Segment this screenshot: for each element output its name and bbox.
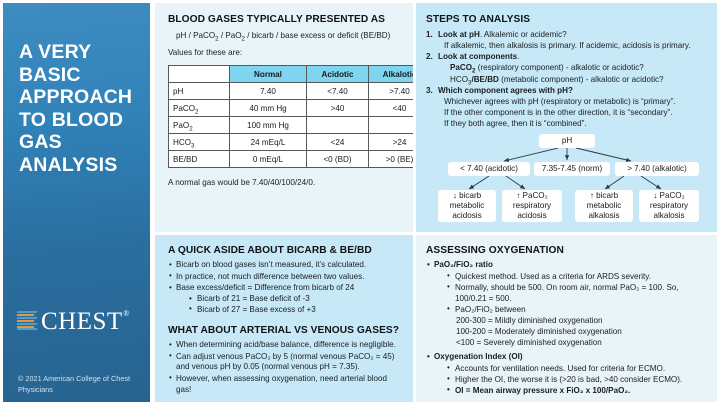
cell-normal: 40 mm Hg — [230, 100, 307, 117]
step-subline: If alkalemic, then alkalosis is primary.… — [438, 40, 708, 51]
cell-acidotic — [307, 117, 369, 134]
blood-gas-values-table: Normal Acidotic Alkalotic pH 7.40 <7.40 … — [168, 65, 413, 168]
table-header-row: Normal Acidotic Alkalotic — [169, 66, 414, 83]
flow-leaf-metabolic-alkalosis: ↑ bicarb metabolic alkalosis — [575, 190, 633, 222]
bicarb-aside-sub-bullets: Bicarb of 21 = Base deficit of -3 Bicarb… — [168, 294, 403, 316]
chest-logo-wordmark: CHEST® — [41, 309, 123, 334]
table-row: PaO2 100 mm Hg — [169, 117, 414, 134]
step-number: 2. — [426, 51, 433, 62]
list-item: In practice, not much difference between… — [168, 272, 403, 283]
normal-gas-note: A normal gas would be 7.40/40/100/24/0. — [168, 177, 413, 188]
row-label-text: HCO — [173, 138, 191, 147]
component-rest: (respiratory component) - alkalotic or a… — [476, 63, 644, 72]
subtitle-part-1: pH / PaCO — [176, 31, 215, 40]
oxygenation-index-bullets: Accounts for ventilation needs. Used for… — [436, 363, 709, 396]
list-item: Accounts for ventilation needs. Used for… — [446, 363, 709, 374]
cell-alkalotic: >7.40 — [369, 83, 414, 100]
brand-rail: A VERY BASIC APPROACH TO BLOOD GAS ANALY… — [3, 3, 150, 402]
subtitle-part-2: / PaO — [219, 31, 242, 40]
oxygenation-top-bullets: PaO₂/FiO₂ ratio — [426, 260, 709, 271]
page-title: A VERY BASIC APPROACH TO BLOOD GAS ANALY… — [19, 41, 143, 177]
flow-leaf-metabolic-acidosis: ↓ bicarb metabolic acidosis — [438, 190, 496, 222]
chest-logo-text: CHEST — [41, 308, 123, 335]
list-item-oi-formula: OI = Mean airway pressure x FiO₂ x 100/P… — [446, 385, 709, 396]
chest-logo-mark-icon — [17, 311, 38, 331]
cell-acidotic: >40 — [307, 100, 369, 117]
row-label-text: pH — [173, 87, 183, 96]
steps-list: 1.Look at pH. Alkalemic or acidemic? If … — [426, 29, 708, 129]
table-col-blank — [169, 66, 230, 83]
oxygenation-index-bullet: Oxygenation Index (OI) — [426, 352, 709, 363]
pf-range-severe: <100 = Severely diminished oxygenation — [456, 337, 709, 348]
cell-alkalotic: >24 — [369, 134, 414, 151]
bicarb-aside-heading: A QUICK ASIDE ABOUT BICARB & BE/BD — [168, 245, 403, 257]
blood-gases-subtitle: pH / PaCO2 / PaO2 / bicarb / base excess… — [168, 30, 413, 41]
row-label: PaCO2 — [169, 100, 230, 117]
registered-trademark-icon: ® — [123, 310, 130, 318]
cell-acidotic: <7.40 — [307, 83, 369, 100]
bicarb-aside-bullets: Bicarb on blood gases isn’t measured, it… — [168, 260, 403, 294]
component-pre: HCO — [450, 75, 468, 84]
values-label: Values for these are: — [168, 47, 413, 58]
step-number: 3. — [426, 85, 433, 96]
list-item: PaO₂/FiO₂ between — [446, 304, 709, 315]
list-item: Base excess/deficit = Difference from bi… — [168, 283, 403, 294]
arterial-venous-heading: WHAT ABOUT ARTERIAL VS VENOUS GASES? — [168, 325, 403, 337]
list-item: When determining acid/base balance, diff… — [168, 340, 403, 351]
table-col-normal: Normal — [230, 66, 307, 83]
leaf-line-2: metabolic — [450, 201, 485, 211]
leaf-line-3: acidosis — [452, 211, 481, 221]
cell-alkalotic — [369, 117, 414, 134]
component-rest: (metabolic component) - alkalotic or aci… — [499, 75, 664, 84]
table-col-acidotic: Acidotic — [307, 66, 369, 83]
pf-range-mild: 200-300 = Mildly diminished oxygenation — [456, 315, 709, 326]
leaf-line-2: respiratory — [513, 201, 551, 211]
leaf-line-2: metabolic — [587, 201, 622, 211]
table-row: HCO3 24 mEq/L <24 >24 — [169, 134, 414, 151]
row-label-sub: 3 — [191, 142, 194, 149]
cell-normal: 0 mEq/L — [230, 151, 307, 168]
flow-leaf-respiratory-acidosis: ↑ PaCO₂ respiratory acidosis — [502, 190, 562, 222]
leaf-line-1: ↓ bicarb — [453, 191, 481, 201]
copyright-notice: © 2021 American College of Chest Physici… — [18, 374, 143, 395]
step-number: 1. — [426, 29, 433, 40]
flow-node-alkalotic: > 7.40 (alkalotic) — [615, 162, 699, 176]
table-row: BE/BD 0 mEq/L <0 (BD) >0 (BE) — [169, 151, 414, 168]
flow-leaf-respiratory-alkalosis: ↓ PaCO₂ respiratory alkalosis — [639, 190, 699, 222]
leaf-line-1: ↑ PaCO₂ — [516, 191, 547, 201]
subtitle-part-3: / bicarb / base excess or deficit (BE/BD… — [245, 31, 390, 40]
table-row: pH 7.40 <7.40 >7.40 — [169, 83, 414, 100]
step-item-2: 2.Look at components. PaCO2 (respiratory… — [426, 51, 708, 84]
list-item: Normally, should be 500. On room air, no… — [446, 282, 709, 304]
list-item: Bicarb on blood gases isn’t measured, it… — [168, 260, 403, 271]
step-bold-text: Look at components — [438, 52, 517, 61]
leaf-line-3: alkalosis — [653, 211, 684, 221]
leaf-line-3: alkalosis — [588, 211, 619, 221]
step-rest-text: . Alkalemic or acidemic? — [480, 30, 567, 39]
oxygenation-heading: ASSESSING OXYGENATION — [426, 245, 709, 257]
list-item-oxygenation-index: Oxygenation Index (OI) — [426, 352, 709, 363]
cell-alkalotic: <40 — [369, 100, 414, 117]
cell-normal: 100 mm Hg — [230, 117, 307, 134]
row-label-sub: 2 — [189, 125, 192, 132]
pf-range-moderate: 100-200 = Moderately diminished oxygenat… — [456, 326, 709, 337]
section-spacer — [168, 316, 403, 325]
arterial-venous-bullets: When determining acid/base balance, diff… — [168, 340, 403, 396]
chest-logo: CHEST® — [17, 306, 147, 336]
cell-alkalotic: >0 (BE) — [369, 151, 414, 168]
step-subline: Whichever agrees with pH (respiratory or… — [438, 96, 708, 107]
list-item: Quickest method. Used as a criteria for … — [446, 271, 709, 282]
row-label-text: PaCO — [173, 104, 195, 113]
leaf-line-3: acidosis — [517, 211, 546, 221]
step-rest-text: . — [517, 52, 519, 61]
flow-node-acidotic: < 7.40 (acidotic) — [448, 162, 530, 176]
step-item-3: 3.Which component agrees with pH? Whiche… — [426, 85, 708, 129]
list-item: However, when assessing oxygenation, nee… — [168, 374, 403, 396]
leaf-line-2: respiratory — [650, 201, 688, 211]
flow-node-root: pH — [539, 134, 595, 148]
component-bold: PaCO — [450, 63, 472, 72]
list-item: Can adjust venous PaCO₂ by 5 (normal ven… — [168, 352, 403, 374]
leaf-line-1: ↑ bicarb — [590, 191, 618, 201]
row-label: HCO3 — [169, 134, 230, 151]
flow-node-normal: 7.35-7.45 (norm) — [534, 162, 610, 176]
cell-normal: 7.40 — [230, 83, 307, 100]
blood-gases-heading: BLOOD GASES TYPICALLY PRESENTED AS — [168, 14, 413, 26]
panel-assessing-oxygenation: ASSESSING OXYGENATION PaO₂/FiO₂ ratio Qu… — [416, 235, 717, 402]
list-item: Bicarb of 21 = Base deficit of -3 — [188, 294, 403, 305]
step-bold-text: Which component agrees with pH? — [438, 86, 573, 95]
steps-heading: STEPS TO ANALYSIS — [426, 14, 708, 26]
panel-steps-to-analysis: STEPS TO ANALYSIS 1.Look at pH. Alkalemi… — [416, 3, 717, 232]
panel-bicarb-and-venous: A QUICK ASIDE ABOUT BICARB & BE/BD Bicar… — [155, 235, 413, 402]
component-bold: /BE/BD — [471, 75, 498, 84]
step-bold-text: Look at pH — [438, 30, 480, 39]
row-label-sub: 2 — [195, 108, 198, 115]
cell-normal: 24 mEq/L — [230, 134, 307, 151]
row-label-text: PaO — [173, 121, 189, 130]
component-line-hco3: HCO3/BE/BD (metabolic component) - alkal… — [438, 74, 708, 85]
ph-decision-flowchart: pH < 7.40 (acidotic) 7.35-7.45 (norm) > … — [426, 134, 708, 222]
cell-acidotic: <0 (BD) — [307, 151, 369, 168]
list-item: Higher the OI, the worse it is (>20 is b… — [446, 374, 709, 385]
step-subline: If the other component is in the other d… — [438, 107, 708, 118]
row-label: PaO2 — [169, 117, 230, 134]
component-line-paco2: PaCO2 (respiratory component) - alkaloti… — [438, 62, 708, 73]
step-subline: If they both agree, then it is “combined… — [438, 118, 708, 129]
cell-acidotic: <24 — [307, 134, 369, 151]
poster-root: A VERY BASIC APPROACH TO BLOOD GAS ANALY… — [0, 0, 720, 405]
list-item-pf-ratio: PaO₂/FiO₂ ratio — [426, 260, 709, 271]
panel-blood-gases: BLOOD GASES TYPICALLY PRESENTED AS pH / … — [155, 3, 413, 232]
leaf-line-1: ↓ PaCO₂ — [653, 191, 684, 201]
row-label-text: BE/BD — [173, 155, 197, 164]
table-col-alkalotic: Alkalotic — [369, 66, 414, 83]
table-row: PaCO2 40 mm Hg >40 <40 — [169, 100, 414, 117]
step-item-1: 1.Look at pH. Alkalemic or acidemic? If … — [426, 29, 708, 51]
row-label: pH — [169, 83, 230, 100]
row-label: BE/BD — [169, 151, 230, 168]
pf-ratio-bullets: Quickest method. Used as a criteria for … — [436, 271, 709, 315]
list-item: Bicarb of 27 = Base excess of +3 — [188, 305, 403, 316]
